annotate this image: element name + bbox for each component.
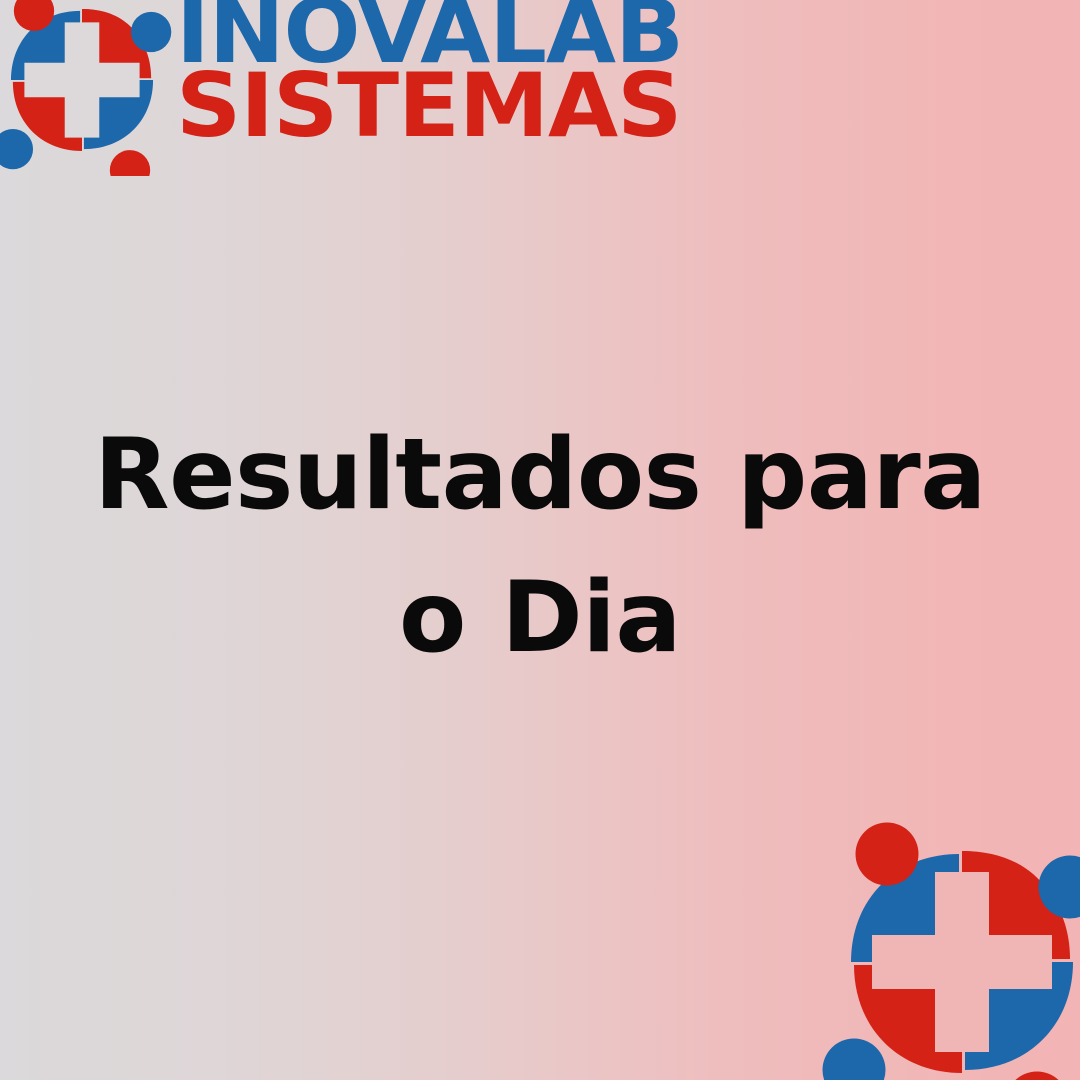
slide-canvas: INOVALAB SISTEMAS Resultados para o Dia (0, 0, 1080, 1080)
corner-logo-dot-red-bottomright (1006, 1072, 1069, 1080)
logo-dot-blue-topright (131, 12, 171, 52)
corner-logo-dot-blue-bottomleft (823, 1039, 886, 1080)
page-title: Resultados para o Dia (60, 404, 1020, 690)
brand-wordmark: INOVALAB SISTEMAS (176, 0, 696, 170)
brand-logo-icon (0, 0, 178, 176)
logo-dot-red-bottomright (110, 150, 150, 176)
logo-dot-blue-bottomleft (0, 129, 33, 169)
brand-wordmark-line2: SISTEMAS (176, 62, 712, 150)
corner-brand-logo-icon (812, 812, 1080, 1080)
corner-logo-dot-red-topleft (856, 823, 919, 886)
